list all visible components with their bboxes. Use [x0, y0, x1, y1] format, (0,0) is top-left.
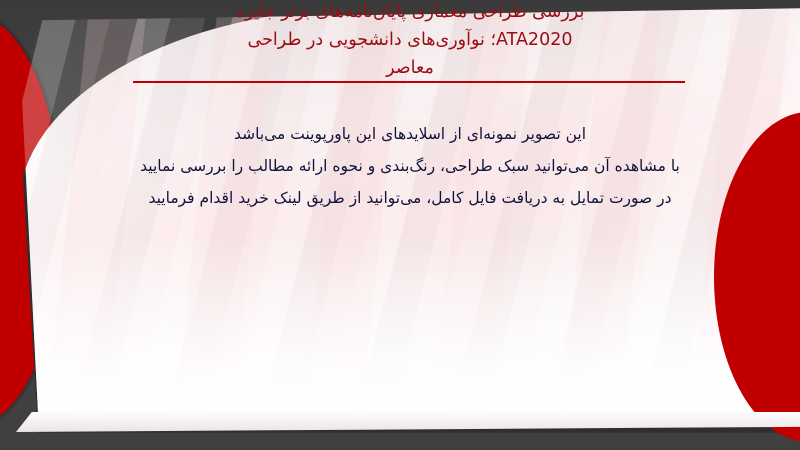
- slide-body-text: این تصویر نمونه‌ای از اسلایدهای این پاور…: [140, 118, 680, 214]
- body-line-2: با مشاهده آن می‌توانید سبک طراحی، رنگ‌بن…: [140, 150, 680, 182]
- slide-title: بررسی طراحی معماری پایان‌نامه‌های برتر ج…: [120, 0, 700, 82]
- body-line-3: در صورت تمایل به دریافت فایل کامل، می‌تو…: [140, 182, 680, 214]
- body-line-1: این تصویر نمونه‌ای از اسلایدهای این پاور…: [140, 118, 680, 150]
- title-line-1: بررسی طراحی معماری پایان‌نامه‌های برتر ج…: [120, 0, 700, 26]
- panel-bottom-fade: [18, 235, 800, 428]
- presentation-slide: بررسی طراحی معماری پایان‌نامه‌های برتر ج…: [0, 0, 800, 450]
- title-line-3: معاصر: [120, 54, 700, 82]
- title-line-2: ATA2020؛ نوآوری‌های دانشجویی در طراحی: [120, 26, 700, 54]
